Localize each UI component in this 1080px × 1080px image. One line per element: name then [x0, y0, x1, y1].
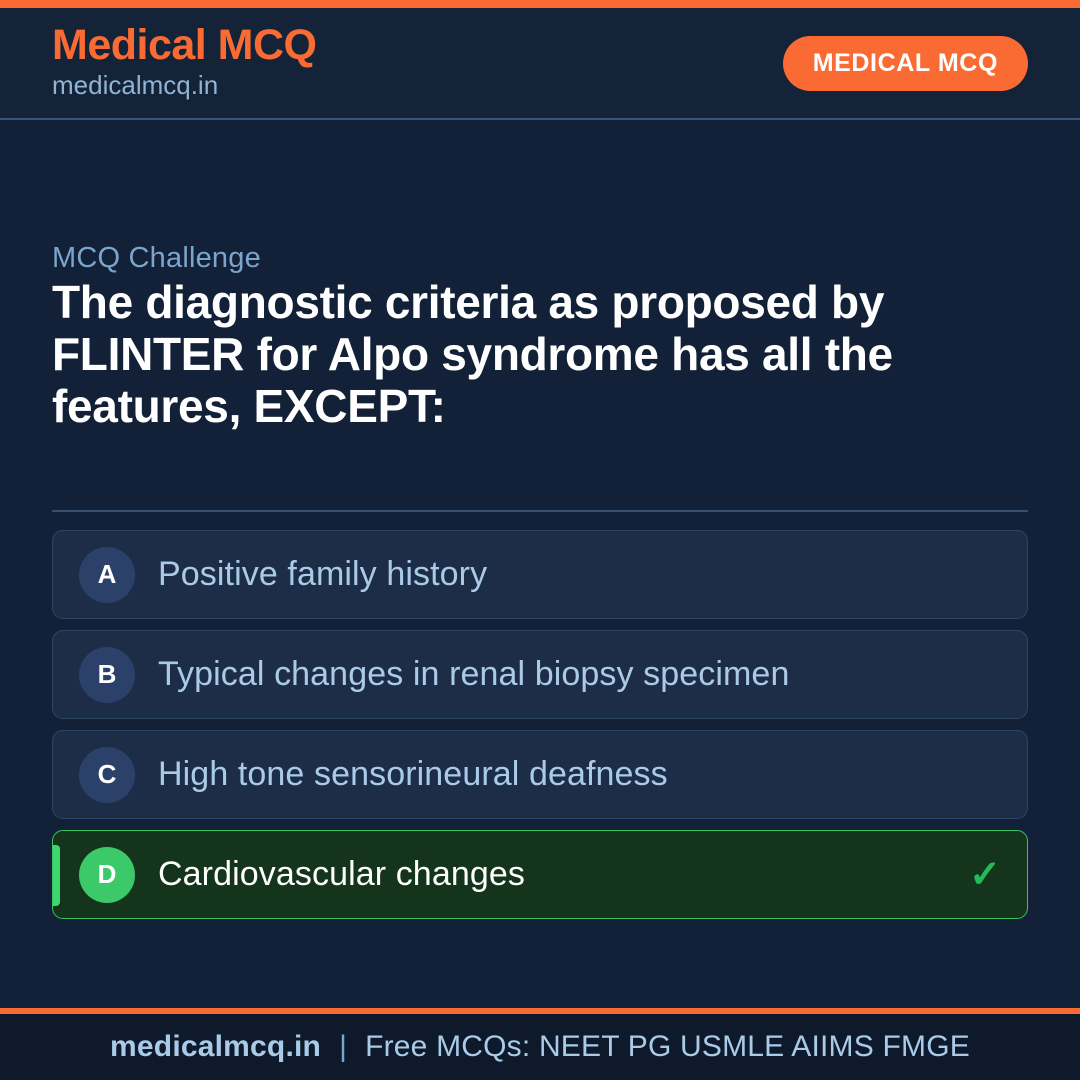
option-label-a: Positive family history — [158, 556, 487, 593]
option-item-c[interactable]: C High tone sensorineural deafness — [52, 730, 1028, 819]
options-list: A Positive family history B Typical chan… — [52, 530, 1028, 919]
option-label-b: Typical changes in renal biopsy specimen — [158, 656, 789, 693]
brand-subtitle: medicalmcq.in — [52, 69, 317, 103]
question-kicker: MCQ Challenge — [52, 242, 261, 275]
brand-block: Medical MCQ medicalmcq.in — [52, 23, 317, 104]
option-item-a[interactable]: A Positive family history — [52, 530, 1028, 619]
footer-tags-label: Free MCQs: NEET PG USMLE AIIMS FMGE — [365, 1030, 970, 1064]
top-accent-bar — [0, 0, 1080, 8]
correct-accent-bar — [53, 845, 60, 906]
question-options-divider — [52, 510, 1028, 512]
option-letter-badge-a: A — [79, 547, 135, 603]
option-letter-badge-c: C — [79, 747, 135, 803]
page-footer: medicalmcq.in | Free MCQs: NEET PG USMLE… — [0, 1014, 1080, 1080]
checkmark-icon: ✓ — [969, 856, 1001, 894]
header-badge-pill: MEDICAL MCQ — [783, 36, 1028, 91]
question-text: The diagnostic criteria as proposed by F… — [52, 277, 952, 433]
main-content: MCQ Challenge The diagnostic criteria as… — [0, 122, 1080, 1010]
option-item-d[interactable]: D Cardiovascular changes ✓ — [52, 830, 1028, 919]
page-header: Medical MCQ medicalmcq.in MEDICAL MCQ — [0, 8, 1080, 120]
option-letter-badge-b: B — [79, 647, 135, 703]
option-label-d: Cardiovascular changes — [158, 856, 525, 893]
brand-title: Medical MCQ — [52, 23, 317, 68]
footer-separator: | — [339, 1030, 347, 1064]
option-letter-badge-d: D — [79, 847, 135, 903]
option-item-b[interactable]: B Typical changes in renal biopsy specim… — [52, 630, 1028, 719]
footer-site-label: medicalmcq.in — [110, 1030, 321, 1064]
option-label-c: High tone sensorineural deafness — [158, 756, 668, 793]
